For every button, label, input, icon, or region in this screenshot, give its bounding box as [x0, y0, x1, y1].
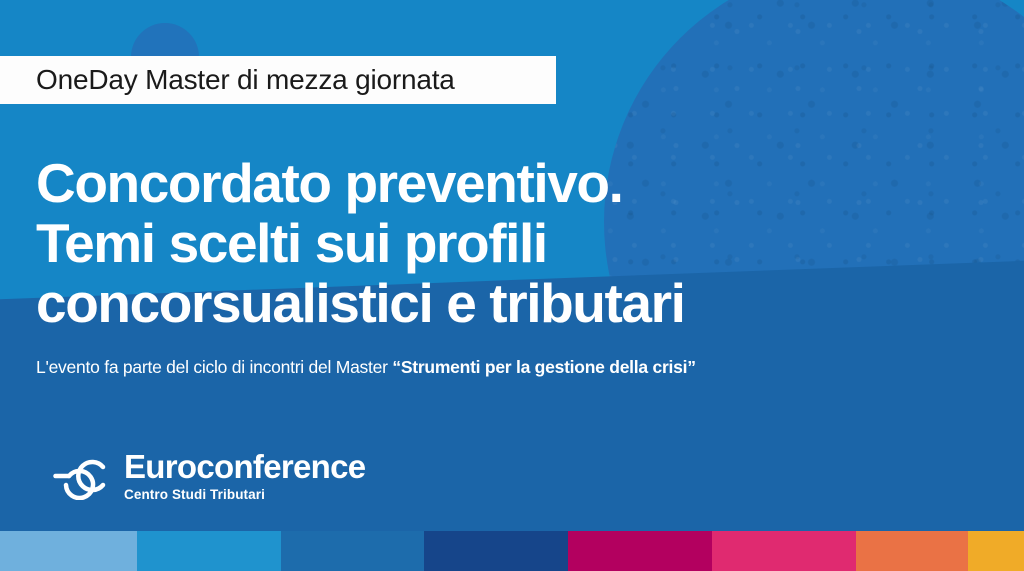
- color-swatch-bright-blue: [137, 531, 281, 571]
- logo-wordmark: Euroconference Centro Studi Tributari: [124, 450, 365, 502]
- logo-tagline: Centro Studi Tributari: [124, 488, 365, 502]
- page-title: Concordato preventivo. Temi scelti sui p…: [36, 154, 936, 334]
- color-swatch-orange: [856, 531, 968, 571]
- subtitle-quoted-title: “Strumenti per la gestione della crisi”: [392, 357, 695, 377]
- color-swatch-medium-blue: [281, 531, 424, 571]
- eyebrow-label-box: OneDay Master di mezza giornata: [0, 56, 556, 104]
- promo-banner: OneDay Master di mezza giornata Concorda…: [0, 0, 1024, 571]
- headline-line-2: Temi scelti sui profili: [36, 214, 936, 274]
- subtitle: L'evento fa parte del ciclo di incontri …: [36, 357, 696, 378]
- subtitle-lead: L'evento fa parte del ciclo di incontri …: [36, 357, 392, 377]
- eyebrow-label-text: OneDay Master di mezza giornata: [36, 64, 455, 96]
- euroconference-logo: Euroconference Centro Studi Tributari: [40, 450, 365, 502]
- ec-monogram-icon: [40, 452, 110, 500]
- color-swatch-navy-blue: [424, 531, 568, 571]
- color-swatch-amber: [968, 531, 1024, 571]
- color-swatch-light-blue: [0, 531, 137, 571]
- color-swatch-deep-magenta: [568, 531, 712, 571]
- logo-name: Euroconference: [124, 450, 365, 483]
- headline-line-3: concorsualistici e tributari: [36, 274, 936, 334]
- bottom-color-bar: [0, 531, 1024, 571]
- color-swatch-pink: [712, 531, 856, 571]
- headline-line-1: Concordato preventivo.: [36, 154, 936, 214]
